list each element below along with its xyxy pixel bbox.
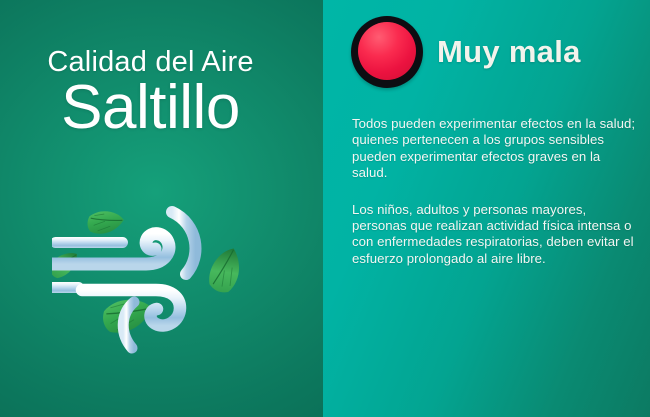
right-panel: Muy mala Todos pueden experimentar efect… <box>323 0 650 417</box>
advice-block: Todos pueden experimentar efectos en la … <box>352 116 638 267</box>
air-quality-status-dot-icon <box>351 16 423 88</box>
advice-paragraph-general: Todos pueden experimentar efectos en la … <box>352 116 638 182</box>
advice-paragraph-sensitive-groups: Los niños, adultos y personas mayores, p… <box>352 202 638 268</box>
status-row: Muy mala <box>351 16 581 88</box>
wind-blowing-icon <box>52 198 282 358</box>
leaf-icon <box>199 247 252 299</box>
title-block: Calidad del Aire Saltillo <box>0 44 323 142</box>
left-panel: Calidad del Aire Saltillo <box>0 0 323 417</box>
air-quality-card: Calidad del Aire Saltillo <box>0 0 650 417</box>
leaf-icon <box>83 203 124 243</box>
page-title-city: Saltillo <box>0 74 301 142</box>
status-badge: Muy mala <box>437 34 581 70</box>
